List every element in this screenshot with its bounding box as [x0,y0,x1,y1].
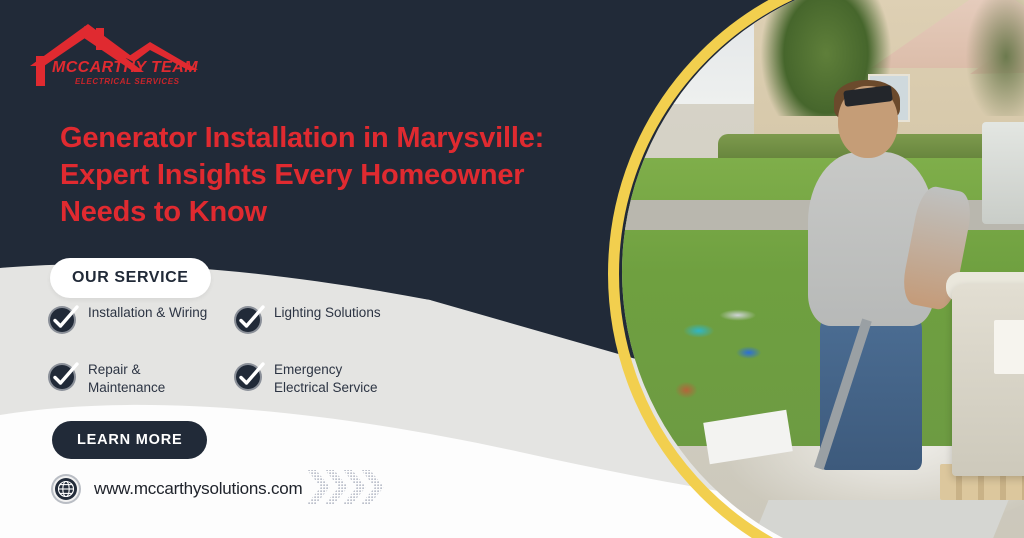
page-title: Generator Installation in Marysville: Ex… [60,120,590,231]
marketing-banner: MCCARTHY TEAM ELECTRICAL SERVICES Genera… [0,0,1024,538]
chevrons-right-icon [305,466,400,508]
photo-trailer [982,122,1024,224]
check-circle-icon [48,361,78,391]
list-item-label: Emergency Electrical Service [274,360,394,397]
svg-text:ELECTRICAL SERVICES: ELECTRICAL SERVICES [75,77,180,86]
company-logo[interactable]: MCCARTHY TEAM ELECTRICAL SERVICES [22,14,222,94]
list-item-label: Lighting Solutions [274,303,381,322]
hero-photo-image [622,0,1024,538]
list-item: Repair & Maintenance [48,360,208,397]
check-circle-icon [234,361,264,391]
list-item: Emergency Electrical Service [234,360,394,397]
website-url[interactable]: www.mccarthysolutions.com [94,479,303,499]
service-list: Installation & Wiring Lighting Solutions [48,303,448,397]
globe-icon [50,473,82,505]
website-row[interactable]: www.mccarthysolutions.com [50,473,303,505]
photo-tree [964,0,1024,116]
our-service-badge: OUR SERVICE [50,258,211,298]
list-item: Lighting Solutions [234,303,394,334]
hero-photo [622,0,1024,538]
photo-generator-label [994,320,1024,374]
photo-sidewalk [739,500,1008,538]
svg-text:MCCARTHY TEAM: MCCARTHY TEAM [52,59,198,76]
list-item: Installation & Wiring [48,303,208,334]
list-item-label: Installation & Wiring [88,303,207,322]
learn-more-button[interactable]: LEARN MORE [52,421,207,459]
check-circle-icon [234,304,264,334]
photo-generator [952,284,1024,476]
photo-worker-jeans [820,314,922,470]
list-item-label: Repair & Maintenance [88,360,208,397]
check-circle-icon [48,304,78,334]
